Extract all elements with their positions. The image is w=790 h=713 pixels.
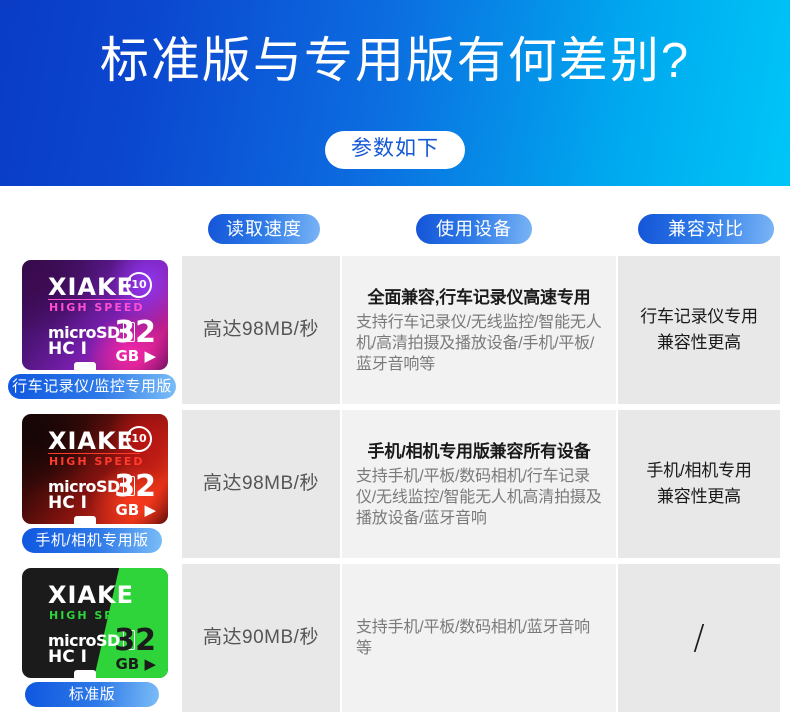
column-header-read-speed: 读取速度 (208, 214, 320, 244)
card-capacity-unit: GB ▶ (115, 502, 156, 518)
card-brand-label: XIAKE (48, 428, 134, 454)
comparison-table: XIAKE HIGH SPEED 10 microSD1 HC I 32 GB … (0, 256, 790, 712)
card-capacity-unit: GB ▶ (115, 656, 156, 672)
header-banner: 标准版与专用版有何差别? 参数如下 (0, 0, 790, 186)
read-speed-cell: 高达98MB/秒 (182, 410, 340, 558)
page-title: 标准版与专用版有何差别? (0, 30, 790, 92)
card-subtitle-label: HIGH SPEED (49, 302, 145, 314)
product-variant-badge: 标准版 (25, 682, 159, 707)
devices-title: 全面兼容,行车记录仪高速专用 (356, 286, 602, 310)
read-speed-value: 高达98MB/秒 (203, 318, 319, 342)
product-card-cell: XIAKE HIGH SPEED C microSD1 HC I 32 GB ▶… (0, 564, 182, 712)
compatibility-line-1: 行车记录仪专用 (640, 304, 758, 330)
card-notch (74, 670, 96, 678)
table-row: XIAKE HIGH SPEED 10 microSD1 HC I 32 GB … (0, 256, 790, 404)
speed-class-icon: 10 (126, 272, 152, 298)
microsd-card-image-red: XIAKE HIGH SPEED 10 microSD1 HC I 32 GB … (22, 414, 168, 524)
speed-class-icon: 10 (126, 426, 152, 452)
card-rule (48, 453, 140, 454)
microsd-card-image-purple: XIAKE HIGH SPEED 10 microSD1 HC I 32 GB … (22, 260, 168, 370)
card-hc-label: HC I (48, 648, 87, 667)
card-capacity-value: 32 (114, 318, 156, 348)
product-card-cell: XIAKE HIGH SPEED 10 microSD1 HC I 32 GB … (0, 410, 182, 558)
card-capacity-value: 32 (114, 626, 156, 656)
compatibility-line-2: 兼容性更高 (640, 330, 758, 356)
devices-title: 手机/相机专用版兼容所有设备 (356, 440, 602, 464)
read-speed-cell: 高达98MB/秒 (182, 256, 340, 404)
devices-description: 支持手机/平板/数码相机/行车记录仪/无线监控/智能无人机高清拍摄及播放设备/蓝… (356, 466, 602, 529)
compatibility-text: 手机/相机专用 兼容性更高 (646, 458, 751, 510)
compatibility-cell: / (618, 564, 780, 712)
params-badge: 参数如下 (325, 131, 465, 169)
read-speed-cell: 高达90MB/秒 (182, 564, 340, 712)
devices-cell: 全面兼容,行车记录仪高速专用 支持行车记录仪/无线监控/智能无人机/高清拍摄及播… (342, 256, 616, 404)
card-brand-label: XIAKE (48, 274, 134, 300)
product-variant-badge: 行车记录仪/监控专用版 (8, 374, 176, 399)
card-capacity-value: 32 (114, 472, 156, 502)
card-hc-label: HC I (48, 340, 87, 359)
read-speed-value: 高达98MB/秒 (203, 472, 319, 496)
compatibility-line-1: 手机/相机专用 (646, 458, 751, 484)
card-subtitle-label: HIGH SPEED (49, 456, 145, 468)
column-header-compatibility: 兼容对比 (638, 214, 774, 244)
card-notch (74, 516, 96, 524)
card-hc-label: HC I (48, 494, 87, 513)
table-row: XIAKE HIGH SPEED 10 microSD1 HC I 32 GB … (0, 410, 790, 558)
card-notch (74, 362, 96, 370)
devices-description: 支持行车记录仪/无线监控/智能无人机/高清拍摄及播放设备/手机/平板/蓝牙音响等 (356, 312, 602, 375)
card-brand-label: XIAKE (48, 582, 134, 608)
compatibility-cell: 手机/相机专用 兼容性更高 (618, 410, 780, 558)
devices-cell: 支持手机/平板/数码相机/蓝牙音响等 (342, 564, 616, 712)
read-speed-value: 高达90MB/秒 (203, 626, 319, 650)
compatibility-cell: 行车记录仪专用 兼容性更高 (618, 256, 780, 404)
compatibility-text: 行车记录仪专用 兼容性更高 (640, 304, 758, 356)
microsd-card-image-green: XIAKE HIGH SPEED C microSD1 HC I 32 GB ▶ (22, 568, 168, 678)
product-card-cell: XIAKE HIGH SPEED 10 microSD1 HC I 32 GB … (0, 256, 182, 404)
table-row: XIAKE HIGH SPEED C microSD1 HC I 32 GB ▶… (0, 564, 790, 712)
compatibility-not-applicable: / (693, 621, 704, 655)
card-capacity-unit: GB ▶ (115, 348, 156, 364)
speed-class-icon: C (122, 606, 140, 624)
devices-cell: 手机/相机专用版兼容所有设备 支持手机/平板/数码相机/行车记录仪/无线监控/智… (342, 410, 616, 558)
devices-description: 支持手机/平板/数码相机/蓝牙音响等 (356, 617, 602, 659)
card-rule (48, 299, 140, 300)
compatibility-line-2: 兼容性更高 (646, 484, 751, 510)
product-variant-badge: 手机/相机专用版 (22, 528, 162, 553)
column-header-devices: 使用设备 (416, 214, 532, 244)
